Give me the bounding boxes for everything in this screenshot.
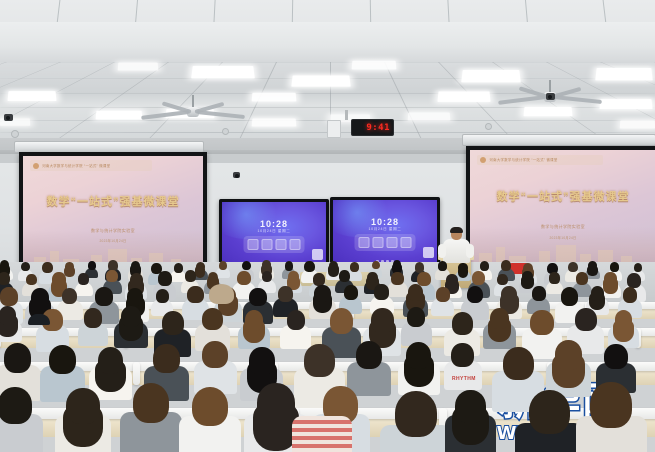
audience-member — [490, 308, 509, 347]
projection-screen-left: 河南大学数学与统计学院 “一站式” 微课堂 数学“一站式”强基微课堂 数学与统计… — [19, 152, 207, 272]
audience-head — [196, 262, 205, 272]
audience-head — [285, 261, 294, 270]
audience-member — [436, 287, 450, 314]
audience-member — [615, 310, 633, 346]
audience-member — [78, 273, 89, 294]
audience-head — [288, 271, 298, 282]
lecture-hall-photo: 9:41 河南大学数学与统计学院 “一站式” 微课堂 数学“一站式”强基微课堂 … — [0, 0, 655, 452]
audience-head — [202, 308, 223, 330]
audience-member — [245, 310, 264, 347]
led-clock: 9:41 — [351, 119, 394, 136]
audience-head — [344, 285, 358, 300]
audience-head — [4, 343, 32, 373]
audience-head — [329, 261, 338, 271]
audience-head — [66, 388, 99, 424]
audience-head — [532, 286, 546, 301]
audience-member — [62, 288, 77, 319]
lecturer-arm-right — [466, 244, 474, 258]
audience-member — [356, 341, 382, 393]
audience-head — [156, 289, 169, 303]
wall-camera-icon — [233, 172, 240, 178]
audience-member — [202, 341, 228, 392]
audience-member — [0, 387, 32, 452]
audience-head — [501, 286, 517, 303]
ceiling-grid-far — [0, 0, 655, 24]
audience-head — [561, 287, 578, 306]
panel-light-11 — [599, 99, 652, 109]
audience-head — [0, 387, 32, 423]
projector-device-left — [4, 114, 13, 121]
dock-app-icon-1[interactable] — [248, 239, 259, 250]
audience-head — [406, 342, 431, 369]
audience-head — [278, 286, 293, 302]
audience-head — [529, 390, 570, 435]
audience-head — [451, 343, 474, 367]
audience-head — [257, 383, 295, 424]
audience-member — [287, 310, 306, 347]
audience-member — [588, 261, 597, 278]
audience-head — [371, 308, 394, 332]
projection-screen-right: 河南大学数学与统计学院 “一站式” 微课堂 数学“一站式”强基微课堂 数学与统计… — [466, 146, 655, 270]
monitor-standby-time-right: 10:28 — [333, 217, 437, 227]
audience-head — [187, 286, 203, 303]
audience-member — [219, 261, 228, 278]
audience-head — [501, 260, 511, 271]
slide-date-left: 2023年10月24日 — [23, 238, 203, 243]
audience-beanie — [209, 284, 234, 304]
audience-head — [0, 272, 10, 285]
audience-head — [106, 270, 117, 282]
audience-member — [0, 306, 16, 340]
audience-member — [455, 390, 486, 451]
audience-head — [549, 272, 559, 283]
panel-light-1 — [191, 66, 255, 78]
slide-banner-right: 河南大学数学与统计学院 “一站式” 微课堂 — [477, 155, 603, 165]
ceiling-fan-right — [495, 80, 605, 104]
ceiling-soffit — [0, 22, 655, 62]
monitor-standby-date-right: 10月24日 星期二 — [333, 227, 437, 232]
panel-light-3 — [7, 91, 56, 101]
panel-light-10 — [437, 91, 490, 101]
audience-head — [393, 260, 401, 269]
slide-right: 河南大学数学与统计学院 “一站式” 微课堂 数学“一站式”强基微课堂 数学与统计… — [470, 150, 655, 266]
screen-roller-right — [462, 134, 655, 146]
audience-head — [65, 262, 74, 271]
audience-member — [133, 383, 170, 452]
audience-head — [237, 271, 251, 286]
audience-member — [121, 306, 141, 345]
audience-head — [467, 286, 484, 304]
audience-member — [458, 263, 467, 281]
dock-app-icon-3[interactable] — [387, 237, 398, 248]
panel-light-7 — [252, 119, 297, 127]
audience-head — [356, 341, 382, 369]
lecturer-arm-left — [438, 244, 446, 258]
audience-member — [604, 272, 616, 297]
audience-shirt-text: RHYTHM — [452, 376, 476, 382]
audience-head — [367, 272, 378, 283]
audience-head — [455, 390, 486, 423]
audience-member — [391, 272, 403, 296]
monitor-standby-time-left: 10:28 — [222, 219, 326, 229]
audience-head — [249, 347, 275, 375]
audience-head — [480, 261, 489, 271]
audience-head — [219, 261, 228, 270]
audience-head — [26, 274, 37, 285]
audience-head — [31, 288, 49, 307]
audience-head — [575, 308, 597, 332]
slide-banner-text-left: 河南大学数学与统计学院 “一站式” 微课堂 — [42, 163, 110, 168]
audience-head — [446, 274, 458, 287]
panel-light-8 — [595, 68, 653, 80]
panel-light-4 — [96, 111, 143, 120]
audience-head — [158, 271, 172, 286]
audience-head — [372, 261, 380, 270]
audience-head — [202, 341, 228, 369]
audience-head — [49, 345, 76, 374]
audience-head — [98, 347, 124, 375]
audience-member — [590, 382, 632, 452]
audience-head — [242, 261, 251, 271]
ceiling-control-box — [327, 120, 341, 138]
audience-head — [568, 262, 578, 272]
audience-striped-shirt — [292, 416, 352, 452]
audience-head — [530, 310, 553, 335]
audience-head — [95, 287, 113, 306]
audience-head — [438, 261, 447, 270]
panel-light-2 — [291, 76, 350, 87]
projector-device-right — [546, 93, 555, 100]
audience-head — [249, 288, 266, 307]
audience-member — [257, 383, 295, 452]
audience-head — [472, 271, 485, 285]
audience-member — [174, 263, 183, 281]
monitor-standby-date-left: 10月24日 星期二 — [222, 229, 326, 234]
audience-cap — [28, 314, 50, 325]
audience-head — [604, 272, 616, 285]
slide-subtitle-right: 数学与统计学院实验室 — [470, 224, 655, 230]
audience-head — [610, 262, 619, 272]
audience-member — [555, 340, 582, 394]
audience-member — [65, 262, 74, 279]
audience-head — [591, 286, 605, 301]
audience-head — [174, 263, 183, 273]
audience-head — [21, 262, 30, 272]
audience-head — [52, 272, 66, 287]
audience-head — [153, 344, 180, 373]
audience-head — [314, 285, 330, 303]
audience-head — [78, 273, 89, 285]
smoke-detector-left — [11, 130, 19, 138]
dock-app-icon-2[interactable] — [373, 237, 384, 248]
audience-head — [304, 344, 335, 377]
slide-banner-left: 河南大学数学与统计学院 “一站式” 微课堂 — [30, 160, 152, 170]
audience-head — [42, 262, 52, 273]
audience-head — [555, 340, 582, 369]
audience-member — [192, 387, 229, 452]
audience-head — [407, 307, 425, 327]
panel-light-16 — [620, 121, 655, 129]
institution-emblem-icon — [33, 163, 39, 169]
slide-banner-text-right: 河南大学数学与统计学院 “一站式” 微课堂 — [489, 157, 557, 162]
audience-member — [395, 391, 438, 452]
lcd-monitor-right-screen[interactable]: 10:28 10月24日 星期二 — [333, 200, 437, 265]
audience-head — [395, 391, 438, 437]
audience-member — [530, 310, 553, 357]
audience-member — [329, 261, 338, 279]
slide-title-right: 数学“一站式”强基微课堂 — [470, 188, 655, 204]
audience-head — [576, 272, 588, 285]
audience-head — [0, 306, 16, 325]
slide-subtitle-left: 数学与统计学院实验室 — [23, 228, 203, 234]
audience-head — [339, 270, 350, 282]
audience-head — [615, 310, 633, 329]
dock-app-icon-4[interactable] — [290, 239, 301, 250]
audience-head — [245, 310, 264, 330]
audience-head — [130, 273, 143, 287]
audience-member — [407, 307, 425, 344]
audience-head — [627, 273, 641, 288]
audience-member — [98, 347, 124, 398]
dock-app-icon-4[interactable] — [401, 237, 412, 248]
dock-app-icon-1[interactable] — [359, 237, 370, 248]
audience-head — [262, 260, 271, 269]
audience-head — [121, 306, 141, 327]
audience-head — [374, 284, 388, 300]
audience-head — [287, 310, 306, 330]
lecturer-hair — [450, 227, 463, 233]
audience-head — [62, 288, 77, 305]
slide-left: 河南大学数学与统计学院 “一站式” 微课堂 数学“一站式”强基微课堂 数学与统计… — [23, 156, 203, 268]
audience-head — [436, 287, 450, 302]
audience-member — [84, 308, 102, 343]
audience-head — [497, 274, 508, 285]
audience-head — [0, 260, 9, 270]
audience: RHYTHM — [0, 258, 655, 452]
audience-head — [604, 344, 628, 369]
audience-head — [162, 311, 184, 335]
audience-head — [0, 287, 18, 306]
monitor-dock-right[interactable] — [355, 234, 416, 251]
panel-light-6 — [252, 93, 297, 102]
audience-head — [503, 347, 534, 380]
audience-head — [522, 271, 532, 282]
audience-member — [529, 390, 570, 452]
audience-head — [350, 262, 359, 272]
audience-head — [185, 270, 196, 282]
audience-head — [84, 308, 102, 327]
institution-emblem-icon — [480, 157, 486, 163]
audience-head — [330, 308, 354, 334]
lecturer — [443, 228, 469, 262]
led-clock-time: 9:41 — [366, 123, 390, 133]
dock-app-icon-2[interactable] — [262, 239, 273, 250]
audience-member — [314, 285, 330, 317]
smoke-detector-right — [485, 123, 492, 130]
panel-light-12 — [524, 107, 573, 116]
audience-head — [590, 382, 632, 427]
panel-light-14 — [118, 63, 159, 71]
bench-post-3 — [133, 362, 140, 385]
audience-head — [490, 308, 509, 329]
audience-head — [458, 263, 467, 273]
audience-head — [391, 272, 403, 285]
audience-head — [133, 383, 170, 423]
audience-head — [88, 261, 96, 270]
audience-head — [623, 287, 638, 303]
ceiling-fan-left — [138, 95, 248, 119]
dock-app-icon-3[interactable] — [276, 239, 287, 250]
audience-member — [350, 262, 359, 280]
audience-head — [192, 387, 229, 427]
audience-head — [313, 273, 324, 285]
audience-member — [196, 262, 205, 280]
monitor-corner-widget-right[interactable] — [423, 247, 434, 258]
panel-light-18 — [408, 113, 451, 121]
audience-head — [208, 272, 218, 283]
audience-head — [452, 312, 473, 335]
audience-head — [408, 284, 423, 301]
audience-head — [634, 263, 642, 272]
audience-member — [406, 342, 431, 392]
slide-date-right: 2023年10月24日 — [470, 235, 655, 240]
slide-title-left: 数学“一站式”强基微课堂 — [23, 193, 203, 209]
monitor-dock-left[interactable] — [244, 236, 305, 253]
panel-light-13 — [352, 61, 397, 70]
audience-head — [304, 261, 315, 272]
audience-head — [588, 261, 597, 270]
audience-member — [549, 272, 559, 293]
audience-member — [66, 388, 99, 452]
clock-mount — [345, 110, 348, 120]
audience-head — [127, 288, 143, 305]
smoke-detector-mid — [222, 128, 229, 135]
